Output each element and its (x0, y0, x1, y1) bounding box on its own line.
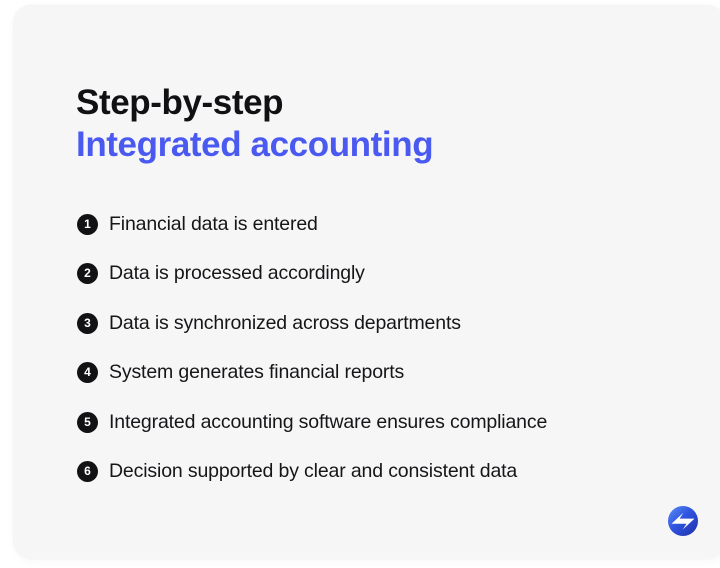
title-line-primary: Step-by-step (76, 83, 433, 123)
step-label: Integrated accounting software ensures c… (109, 411, 547, 434)
title-line-accent: Integrated accounting (76, 125, 433, 165)
step-number-badge: 2 (77, 263, 98, 284)
step-number-badge: 6 (77, 461, 98, 482)
step-number-badge: 5 (77, 412, 98, 433)
content-card: Step-by-step Integrated accounting 1 Fin… (13, 5, 720, 559)
step-label: Data is processed accordingly (109, 262, 365, 285)
lightning-bolt-circle-logo-icon (667, 505, 699, 537)
list-item: 3 Data is synchronized across department… (77, 308, 547, 338)
steps-list: 1 Financial data is entered 2 Data is pr… (77, 209, 547, 506)
step-label: Financial data is entered (109, 213, 318, 236)
page-title: Step-by-step Integrated accounting (76, 83, 433, 164)
step-label: Data is synchronized across departments (109, 312, 461, 335)
list-item: 4 System generates financial reports (77, 358, 547, 388)
step-label: System generates financial reports (109, 361, 404, 384)
step-number-badge: 1 (77, 214, 98, 235)
list-item: 6 Decision supported by clear and consis… (77, 457, 547, 487)
slide-canvas: Step-by-step Integrated accounting 1 Fin… (0, 0, 720, 568)
list-item: 2 Data is processed accordingly (77, 259, 547, 289)
step-number-badge: 4 (77, 362, 98, 383)
step-number-badge: 3 (77, 313, 98, 334)
step-label: Decision supported by clear and consiste… (109, 460, 517, 483)
list-item: 5 Integrated accounting software ensures… (77, 407, 547, 437)
list-item: 1 Financial data is entered (77, 209, 547, 239)
